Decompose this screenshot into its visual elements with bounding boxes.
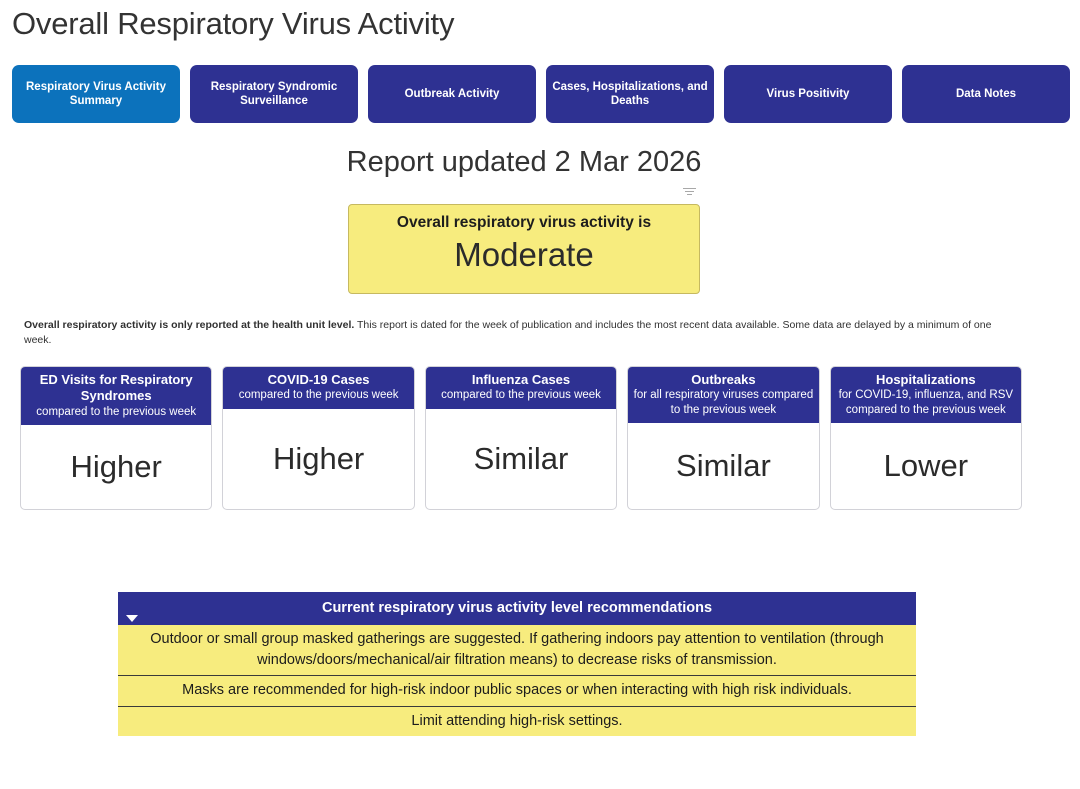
overall-activity-value: Moderate bbox=[454, 237, 593, 273]
metric-card-subtitle: compared to the previous week bbox=[430, 388, 612, 402]
metric-card-value: Similar bbox=[426, 409, 616, 509]
metric-card: Outbreaksfor all respiratory viruses com… bbox=[627, 366, 819, 510]
metric-card-title: Outbreaks bbox=[632, 372, 814, 388]
triangle-down-icon[interactable] bbox=[126, 615, 138, 622]
metric-card: COVID-19 Casescompared to the previous w… bbox=[222, 366, 414, 510]
disclaimer-bold: Overall respiratory activity is only rep… bbox=[24, 319, 354, 331]
overall-activity-label: Overall respiratory virus activity is bbox=[397, 214, 651, 233]
metric-card-value: Similar bbox=[628, 423, 818, 509]
filter-icon-line-1 bbox=[683, 188, 696, 189]
tab-1[interactable]: Respiratory Syndromic Surveillance bbox=[190, 65, 358, 123]
metric-card-header: ED Visits for Respiratory Syndromescompa… bbox=[21, 367, 211, 425]
metric-card-header: COVID-19 Casescompared to the previous w… bbox=[223, 367, 413, 409]
metric-card-subtitle: compared to the previous week bbox=[25, 405, 207, 419]
recommendations-table: Current respiratory virus activity level… bbox=[118, 592, 916, 736]
filter-icon-line-3 bbox=[687, 194, 692, 195]
filter-icon[interactable] bbox=[682, 188, 696, 199]
tab-5[interactable]: Data Notes bbox=[902, 65, 1070, 123]
tab-2[interactable]: Outbreak Activity bbox=[368, 65, 536, 123]
tab-bar: Respiratory Virus Activity SummaryRespir… bbox=[12, 65, 1070, 123]
tab-label: Respiratory Virus Activity Summary bbox=[18, 80, 174, 109]
metric-card-subtitle: for all respiratory viruses compared to … bbox=[632, 388, 814, 417]
metric-card-title: Hospitalizations bbox=[835, 372, 1017, 388]
recommendations-rows: Outdoor or small group masked gatherings… bbox=[118, 625, 916, 736]
recommendation-row: Outdoor or small group masked gatherings… bbox=[118, 625, 916, 676]
metric-card: ED Visits for Respiratory Syndromescompa… bbox=[20, 366, 212, 510]
metric-card-header: Influenza Casescompared to the previous … bbox=[426, 367, 616, 409]
metric-card-header: Hospitalizationsfor COVID-19, influenza,… bbox=[831, 367, 1021, 423]
metric-card-value: Higher bbox=[21, 425, 211, 509]
recommendation-row: Limit attending high-risk settings. bbox=[118, 707, 916, 737]
metric-card: Hospitalizationsfor COVID-19, influenza,… bbox=[830, 366, 1022, 510]
metric-card-subtitle: for COVID-19, influenza, and RSV compare… bbox=[835, 388, 1017, 417]
tab-label: Data Notes bbox=[956, 87, 1016, 101]
overall-activity-card: Overall respiratory virus activity is Mo… bbox=[348, 204, 700, 294]
metric-card: Influenza Casescompared to the previous … bbox=[425, 366, 617, 510]
page-title: Overall Respiratory Virus Activity bbox=[12, 6, 454, 42]
recommendation-row: Masks are recommended for high-risk indo… bbox=[118, 676, 916, 707]
metric-card-row: ED Visits for Respiratory Syndromescompa… bbox=[20, 366, 1022, 510]
tab-label: Respiratory Syndromic Surveillance bbox=[196, 80, 352, 109]
metric-card-title: ED Visits for Respiratory Syndromes bbox=[25, 372, 207, 405]
metric-card-value: Higher bbox=[223, 409, 413, 509]
tab-label: Outbreak Activity bbox=[405, 87, 500, 101]
metric-card-value: Lower bbox=[831, 423, 1021, 509]
tab-4[interactable]: Virus Positivity bbox=[724, 65, 892, 123]
tab-label: Cases, Hospitalizations, and Deaths bbox=[552, 80, 708, 109]
metric-card-header: Outbreaksfor all respiratory viruses com… bbox=[628, 367, 818, 423]
metric-card-title: Influenza Cases bbox=[430, 372, 612, 388]
metric-card-title: COVID-19 Cases bbox=[227, 372, 409, 388]
report-updated-text: Report updated 2 Mar 2026 bbox=[0, 146, 1048, 179]
filter-icon-line-2 bbox=[685, 191, 694, 192]
recommendations-header[interactable]: Current respiratory virus activity level… bbox=[118, 592, 916, 625]
tab-0[interactable]: Respiratory Virus Activity Summary bbox=[12, 65, 180, 123]
tab-label: Virus Positivity bbox=[767, 87, 850, 101]
tab-3[interactable]: Cases, Hospitalizations, and Deaths bbox=[546, 65, 714, 123]
metric-card-subtitle: compared to the previous week bbox=[227, 388, 409, 402]
disclaimer-text: Overall respiratory activity is only rep… bbox=[24, 318, 1014, 348]
recommendations-header-label: Current respiratory virus activity level… bbox=[322, 600, 712, 616]
